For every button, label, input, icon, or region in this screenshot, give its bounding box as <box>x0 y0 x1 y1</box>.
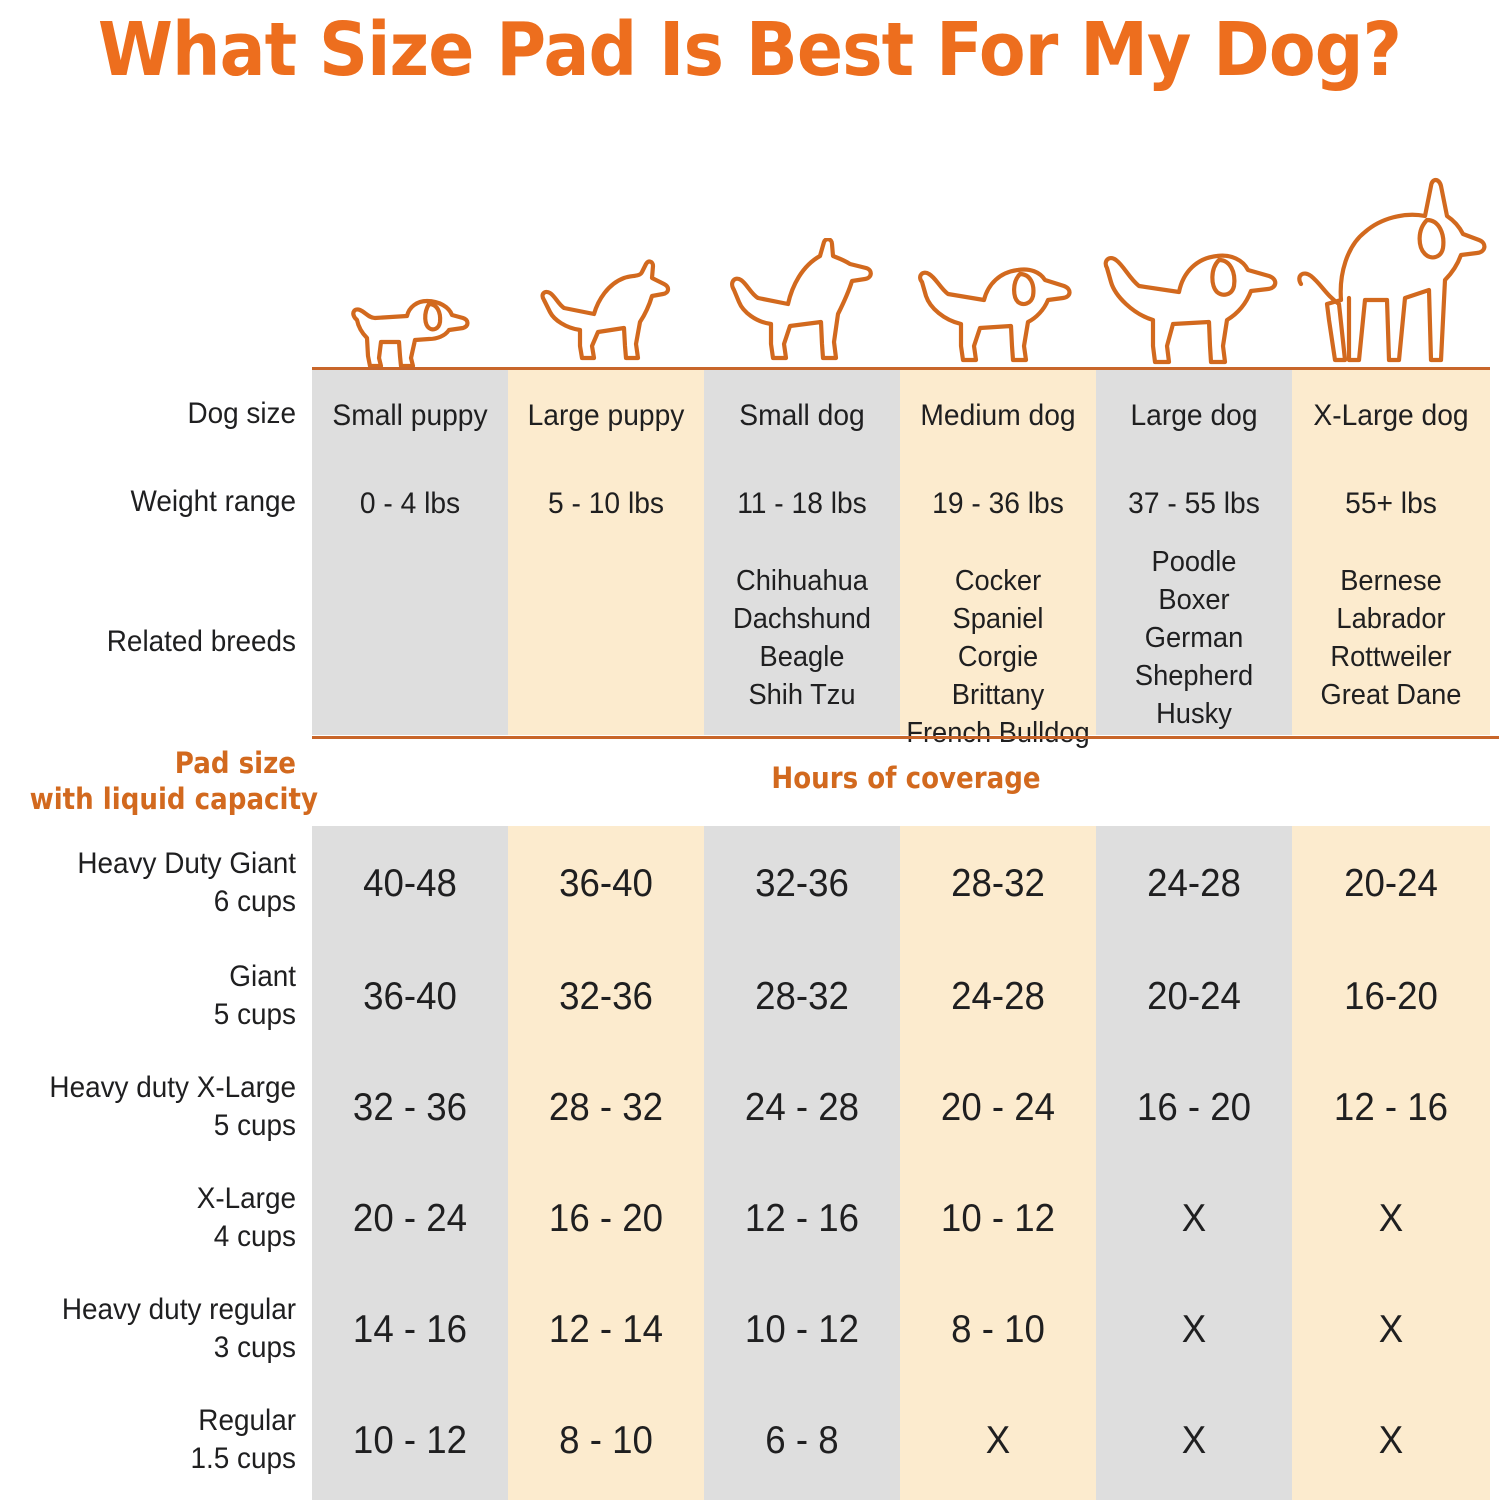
cell-dog-size: Large puppy <box>514 397 698 435</box>
coverage-cell: 32 - 36 <box>318 1086 502 1130</box>
data-column-stripe-large-dog <box>1096 826 1292 1500</box>
coverage-cell: 20-24 <box>1298 862 1484 906</box>
xlarge-dog-icon <box>1292 174 1490 370</box>
coverage-cell: X <box>906 1419 1090 1463</box>
coverage-cell: 36-40 <box>318 975 502 1019</box>
cell-dog-size: Small puppy <box>318 397 502 435</box>
cell-weight-range: 0 - 4 lbs <box>318 485 502 523</box>
medium-dog-icon <box>900 248 1096 370</box>
section-divider <box>312 736 1499 739</box>
cell-related-breeds: Bernese Labrador Rottweiler Great Dane <box>1298 562 1484 714</box>
pad-row-label: Heavy duty X-Large 5 cups <box>21 1069 296 1145</box>
coverage-cell: 28-32 <box>710 975 894 1019</box>
pad-row-label: Regular 1.5 cups <box>21 1402 296 1478</box>
coverage-cell: 20 - 24 <box>906 1086 1090 1130</box>
pad-row-label: X-Large 4 cups <box>21 1180 296 1256</box>
coverage-cell: 32-36 <box>514 975 698 1019</box>
pad-size-header: Pad size with liquid capacity <box>30 745 296 817</box>
small-puppy-icon <box>312 274 508 370</box>
coverage-cell: 10 - 12 <box>318 1419 502 1463</box>
coverage-cell: 12 - 16 <box>1298 1086 1484 1130</box>
coverage-cell: 36-40 <box>514 862 698 906</box>
row-label-related-breeds: Related breeds <box>21 623 296 661</box>
coverage-cell: X <box>1298 1197 1484 1241</box>
pad-row-name: Giant <box>21 958 296 996</box>
data-column-stripe-large-puppy <box>508 826 704 1500</box>
cell-dog-size: Medium dog <box>906 397 1090 435</box>
coverage-cell: 6 - 8 <box>710 1419 894 1463</box>
cell-related-breeds: Chihuahua Dachshund Beagle Shih Tzu <box>710 562 894 714</box>
small-dog-icon <box>704 238 900 370</box>
pad-row-name: Heavy duty X-Large <box>21 1069 296 1107</box>
data-column-stripe-medium-dog <box>900 826 1096 1500</box>
coverage-cell: 12 - 16 <box>710 1197 894 1241</box>
coverage-cell: 10 - 12 <box>906 1197 1090 1241</box>
pad-row-capacity: 1.5 cups <box>21 1440 296 1478</box>
page-title: What Size Pad Is Best For My Dog? <box>60 2 1439 98</box>
large-dog-icon <box>1096 234 1292 370</box>
coverage-cell: 28-32 <box>906 862 1090 906</box>
infographic-page: What Size Pad Is Best For My Dog? <box>0 0 1499 1500</box>
row-label-dog-size: Dog size <box>21 395 296 433</box>
coverage-cell: 12 - 14 <box>514 1308 698 1352</box>
coverage-cell: 8 - 10 <box>514 1419 698 1463</box>
cell-weight-range: 37 - 55 lbs <box>1102 485 1286 523</box>
hours-of-coverage-header: Hours of coverage <box>726 760 1086 796</box>
pad-row-capacity: 4 cups <box>21 1218 296 1256</box>
cell-weight-range: 55+ lbs <box>1298 485 1484 523</box>
coverage-cell: 16 - 20 <box>514 1197 698 1241</box>
large-puppy-icon <box>508 258 704 370</box>
pad-row-label: Heavy Duty Giant 6 cups <box>21 845 296 921</box>
pad-row-label: Heavy duty regular 3 cups <box>21 1291 296 1367</box>
pad-row-capacity: 3 cups <box>21 1329 296 1367</box>
coverage-cell: X <box>1102 1197 1286 1241</box>
row-label-weight-range: Weight range <box>21 483 296 521</box>
cell-weight-range: 19 - 36 lbs <box>906 485 1090 523</box>
cell-related-breeds: Cocker Spaniel Corgie Brittany French Bu… <box>906 562 1090 752</box>
data-column-stripe-xlarge-dog <box>1292 826 1490 1500</box>
coverage-cell: 20 - 24 <box>318 1197 502 1241</box>
coverage-cell: 40-48 <box>318 862 502 906</box>
cell-dog-size: Small dog <box>710 397 894 435</box>
pad-size-header-line1: Pad size <box>30 745 296 781</box>
pad-row-name: Heavy Duty Giant <box>21 845 296 883</box>
cell-related-breeds: Poodle Boxer German Shepherd Husky <box>1102 543 1286 733</box>
pad-row-name: X-Large <box>21 1180 296 1218</box>
pad-row-capacity: 5 cups <box>21 996 296 1034</box>
cell-weight-range: 11 - 18 lbs <box>710 485 894 523</box>
coverage-cell: X <box>1298 1419 1484 1463</box>
pad-row-name: Regular <box>21 1402 296 1440</box>
coverage-cell: 16-20 <box>1298 975 1484 1019</box>
coverage-cell: 16 - 20 <box>1102 1086 1286 1130</box>
coverage-cell: 24-28 <box>906 975 1090 1019</box>
data-column-stripe-small-puppy <box>312 826 508 1500</box>
coverage-cell: X <box>1298 1308 1484 1352</box>
coverage-cell: 24-28 <box>1102 862 1286 906</box>
pad-row-capacity: 6 cups <box>21 883 296 921</box>
pad-size-header-line2: with liquid capacity <box>30 781 296 817</box>
coverage-cell: 8 - 10 <box>906 1308 1090 1352</box>
pad-row-label: Giant 5 cups <box>21 958 296 1034</box>
coverage-cell: 24 - 28 <box>710 1086 894 1130</box>
coverage-cell: 28 - 32 <box>514 1086 698 1130</box>
coverage-cell: X <box>1102 1419 1286 1463</box>
coverage-cell: 10 - 12 <box>710 1308 894 1352</box>
cell-dog-size: Large dog <box>1102 397 1286 435</box>
cell-weight-range: 5 - 10 lbs <box>514 485 698 523</box>
pad-row-name: Heavy duty regular <box>21 1291 296 1329</box>
dog-silhouette-strip <box>312 150 1490 370</box>
coverage-cell: 20-24 <box>1102 975 1286 1019</box>
pad-row-capacity: 5 cups <box>21 1107 296 1145</box>
coverage-cell: 14 - 16 <box>318 1308 502 1352</box>
coverage-cell: X <box>1102 1308 1286 1352</box>
data-column-stripe-small-dog <box>704 826 900 1500</box>
coverage-cell: 32-36 <box>710 862 894 906</box>
cell-dog-size: X-Large dog <box>1298 397 1484 435</box>
